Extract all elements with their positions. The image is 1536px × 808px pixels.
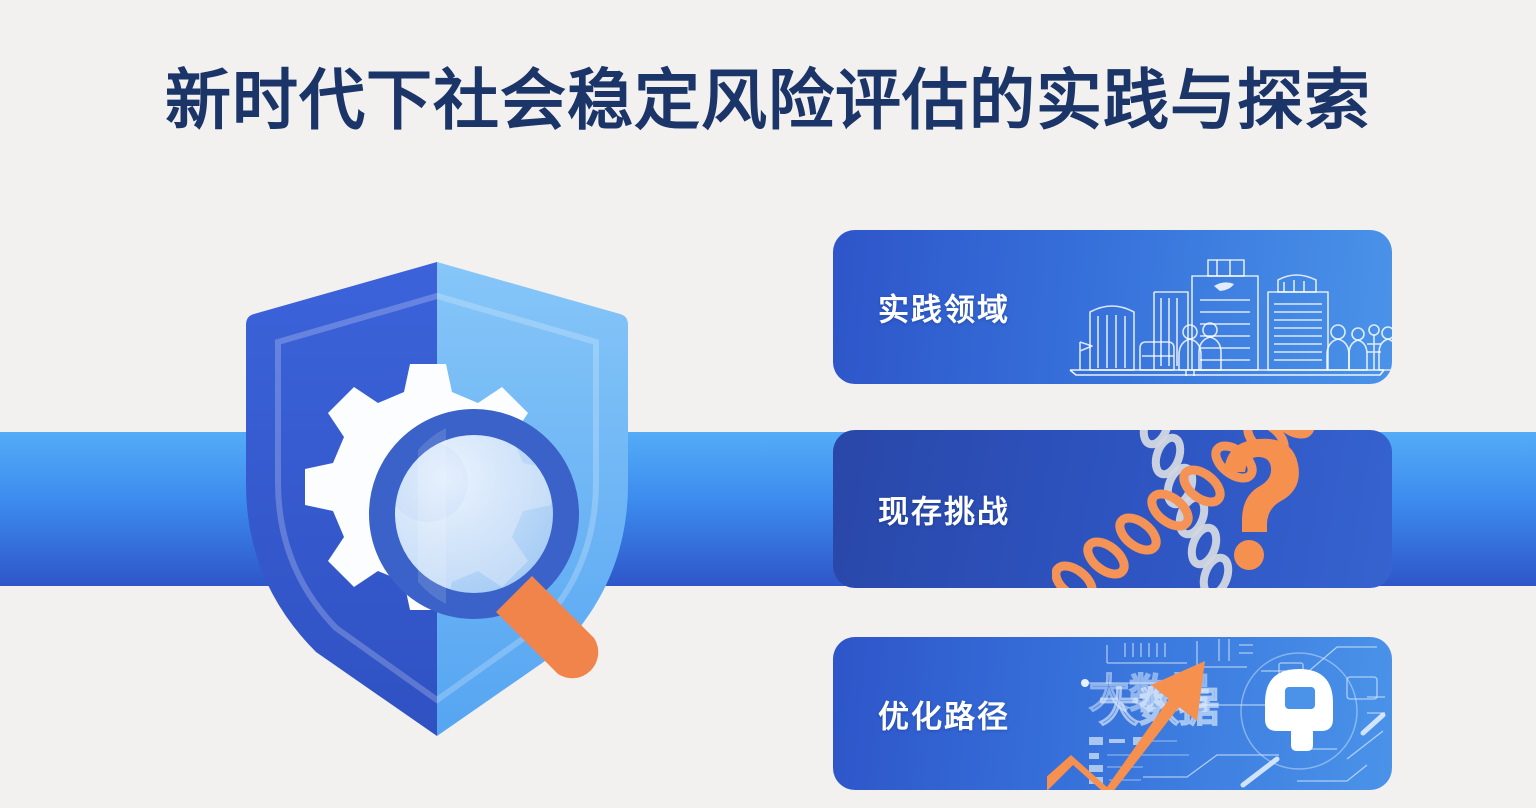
broken-chain-question-mark-illustration	[1052, 430, 1392, 588]
card-practice-areas[interactable]: 实践领域	[833, 230, 1392, 384]
page-title: 新时代下社会稳定风险评估的实践与探索	[0, 62, 1536, 138]
card-label: 现存挑战	[878, 487, 1010, 532]
rising-arrow-bigdata-tech-illustration: 大数据 大数据	[1047, 637, 1392, 790]
city-skyline-illustration	[1062, 230, 1392, 384]
card-label: 实践领域	[878, 285, 1010, 330]
card-label: 优化路径	[878, 691, 1010, 736]
card-optimization-path[interactable]: 大数据 大数据 优化路径	[833, 637, 1392, 790]
shield-gear-magnifier-icon	[232, 252, 632, 752]
slide-canvas: 新时代下社会稳定风险评估的实践与探索	[0, 0, 1536, 808]
card-existing-challenges[interactable]: 现存挑战	[833, 430, 1392, 588]
